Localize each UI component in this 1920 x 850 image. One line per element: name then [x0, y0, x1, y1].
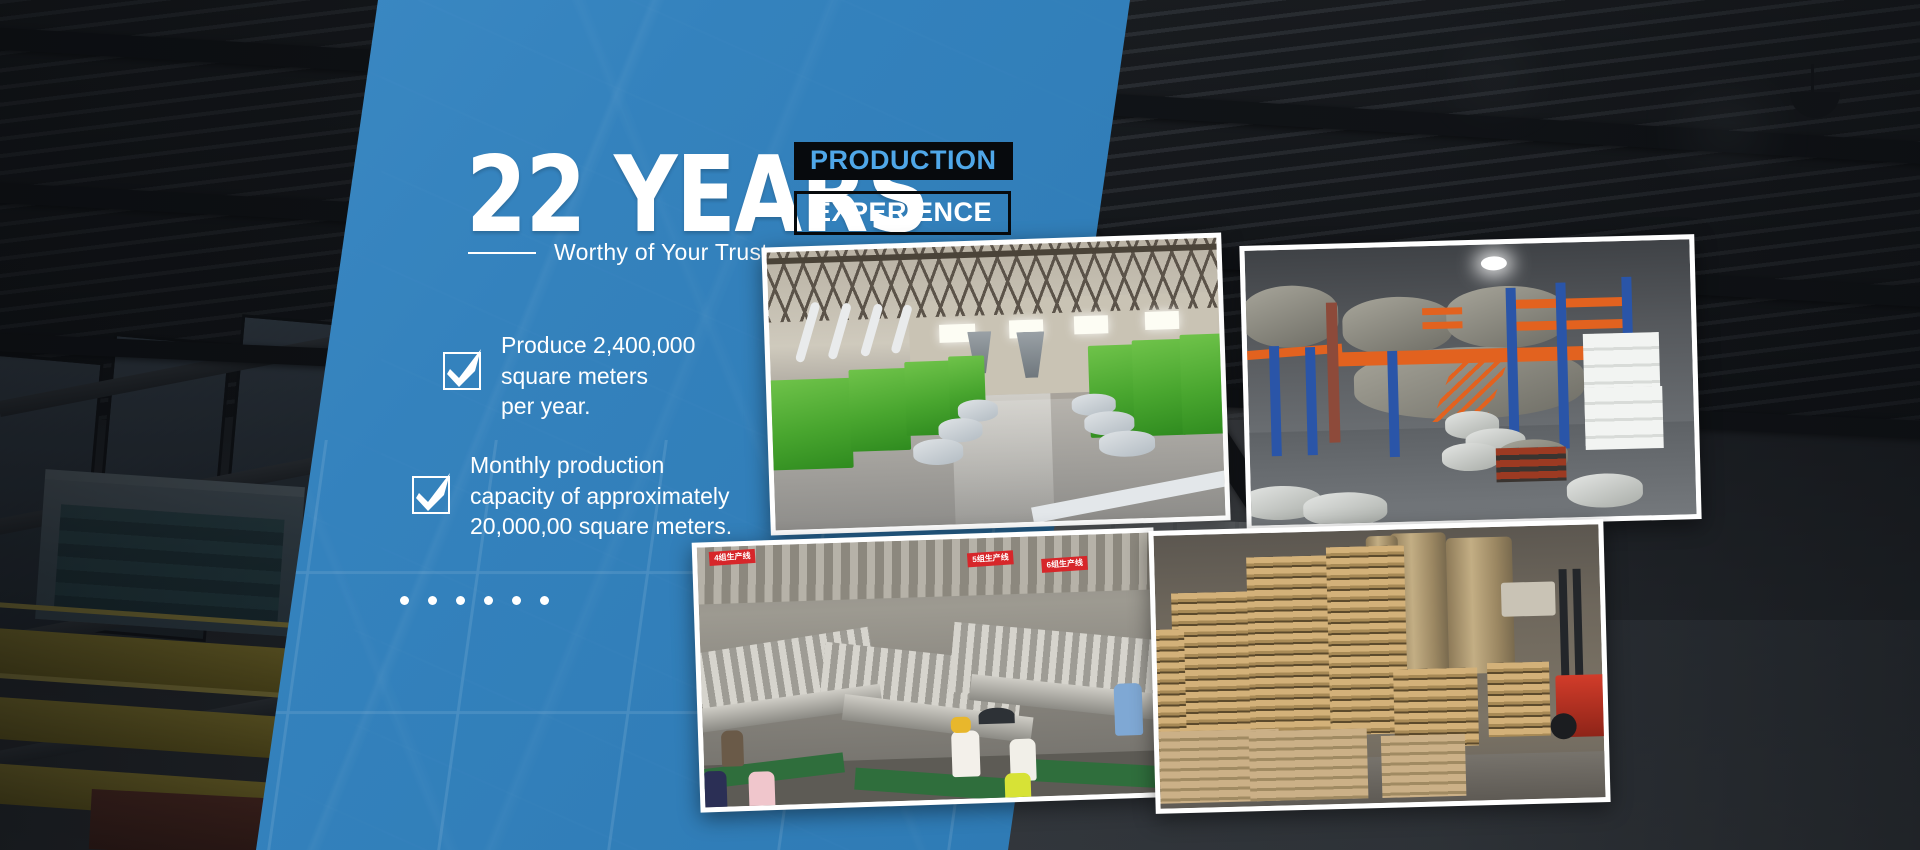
pallet-stack: [1487, 662, 1551, 738]
promo-banner: 22 YEARS PRODUCTION EXPERIENCE Worthy of…: [0, 0, 1920, 850]
bullet-line: per year.: [501, 393, 591, 419]
sack-pile: [1244, 284, 1339, 348]
dot-icon: [456, 596, 465, 605]
rack-beam: [1422, 307, 1462, 315]
hall-window: [1145, 311, 1180, 330]
white-sack-pallet: [1584, 386, 1664, 450]
worker: [721, 730, 744, 767]
photo-raw-material-warehouse: [1239, 234, 1701, 531]
forklift-attachment: [1501, 581, 1556, 616]
umbrella: [978, 707, 1015, 724]
checkmark-icon: [412, 476, 450, 514]
badge-production: PRODUCTION: [794, 142, 1013, 180]
pallet-storage-scene: [1154, 524, 1606, 809]
tagline: Worthy of Your Trust: [468, 239, 768, 266]
rack-post: [1269, 346, 1282, 456]
molding-machine: [848, 368, 911, 452]
dot-icon: [400, 596, 409, 605]
worker: [1114, 683, 1144, 736]
stacked-pallets: [1496, 447, 1567, 483]
feature-bullet-1: Produce 2,400,000 square meters per year…: [443, 330, 695, 422]
dot-icon: [540, 596, 549, 605]
tagline-text: Worthy of Your Trust: [554, 239, 768, 266]
pallet-stack: [1381, 734, 1467, 798]
rack-beam: [1508, 297, 1628, 309]
ceiling-light-icon: [1481, 256, 1507, 271]
photo-inner: 4组生产线 5组生产线 6组生产线: [697, 533, 1157, 808]
bullet-line: capacity of approximately: [470, 483, 730, 509]
photo-inner: [767, 238, 1226, 531]
pallet-stack: [1249, 728, 1369, 801]
production-line-scene: 4组生产线 5组生产线 6组生产线: [697, 533, 1157, 808]
worker: [951, 730, 981, 777]
bullet-line: 20,000,00 square meters.: [470, 513, 732, 539]
molding-machine: [1132, 339, 1187, 437]
rack-beam: [1422, 321, 1462, 329]
photo-injection-molding-hall: [761, 232, 1230, 535]
dot-icon: [484, 596, 493, 605]
photo-inner: [1244, 239, 1696, 526]
photo-inner: [1154, 524, 1606, 809]
worker: [748, 771, 775, 807]
rack-beam: [1508, 319, 1628, 331]
bullet-line: Monthly production: [470, 452, 664, 478]
feature-bullet-2: Monthly production capacity of approxima…: [412, 450, 732, 542]
badge-group: PRODUCTION EXPERIENCE: [794, 142, 1013, 235]
pallet-stack: [1246, 555, 1335, 739]
photo-assembly-production-lines: 4组生产线 5组生产线 6组生产线: [692, 527, 1163, 812]
hall-window: [1074, 315, 1109, 334]
bullet-line: square meters: [501, 363, 648, 389]
rack-post: [1305, 347, 1318, 455]
molding-machine: [1179, 333, 1225, 435]
worker-cap: [951, 717, 972, 734]
bullet-line: Produce 2,400,000: [501, 332, 695, 358]
molding-hall-scene: [767, 238, 1226, 531]
feature-bullet-2-text: Monthly production capacity of approxima…: [470, 450, 732, 542]
sack: [1303, 491, 1388, 526]
dot-icon: [428, 596, 437, 605]
rack-post: [1326, 302, 1341, 442]
worker: [702, 771, 727, 808]
warehouse-scene: [1244, 239, 1696, 526]
dot-indicator-row: [400, 596, 549, 605]
tagline-rule: [468, 252, 536, 254]
dot-icon: [512, 596, 521, 605]
feature-bullet-1-text: Produce 2,400,000 square meters per year…: [501, 330, 695, 422]
checkmark-icon: [443, 352, 481, 390]
photo-finished-pallet-storage: [1148, 519, 1610, 814]
molding-machine: [767, 378, 854, 471]
badge-experience: EXPERIENCE: [794, 191, 1011, 235]
